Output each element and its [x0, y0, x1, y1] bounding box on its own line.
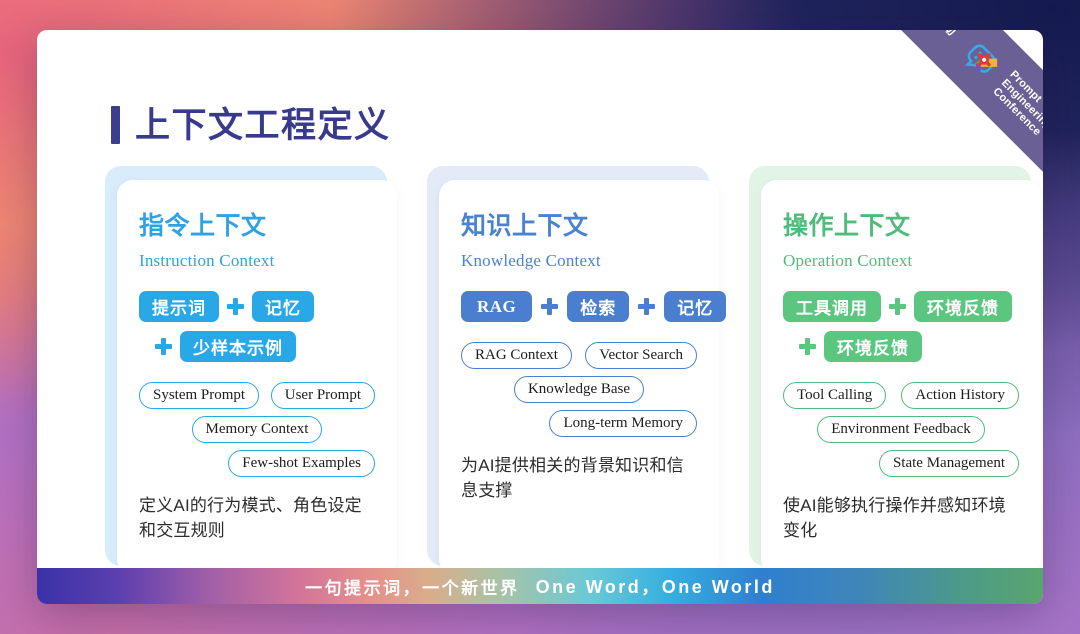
context-column-knowledge: 知识上下文Knowledge ContextRAG检索记忆RAG Context…	[433, 170, 719, 575]
formula-pill[interactable]: 环境反馈	[914, 291, 1012, 322]
context-columns: 指令上下文Instruction Context提示词记忆少样本示例System…	[111, 170, 1041, 575]
card-knowledge: 知识上下文Knowledge ContextRAG检索记忆RAG Context…	[439, 180, 719, 575]
plus-icon	[155, 338, 172, 355]
formula-pill[interactable]: 环境反馈	[824, 331, 922, 362]
title-text: 上下文工程定义	[135, 108, 391, 143]
card-instruction: 指令上下文Instruction Context提示词记忆少样本示例System…	[117, 180, 397, 575]
plus-icon	[227, 298, 244, 315]
tag-row: System PromptUser Prompt	[139, 382, 375, 409]
ribbon-en-label: Prompt Engineering Conference	[990, 68, 1043, 141]
banner-cn-text: 一句提示词，一个新世界	[305, 574, 520, 599]
formula-row: 提示词记忆	[139, 291, 375, 322]
card-heading-en: Instruction Context	[139, 251, 375, 271]
context-column-instruction: 指令上下文Instruction Context提示词记忆少样本示例System…	[111, 170, 397, 575]
banner-en-text: One Word，One World	[536, 573, 775, 599]
plus-icon	[541, 298, 558, 315]
formula-pill[interactable]: 检索	[567, 291, 629, 322]
plus-icon	[799, 338, 816, 355]
component-tag[interactable]: System Prompt	[139, 382, 259, 409]
formula-pill[interactable]: 工具调用	[783, 291, 881, 322]
slide-panel: 系 列 活 动	[37, 30, 1043, 604]
formula-row: 工具调用环境反馈	[783, 291, 1019, 322]
formula-row: 环境反馈	[783, 331, 1019, 362]
tag-row: RAG ContextVector Search	[461, 342, 697, 369]
ribbon-cn-label: 系 列 活 动	[886, 30, 964, 42]
card-heading-cn: 操作上下文	[783, 214, 1019, 239]
component-tag-list: RAG ContextVector SearchKnowledge BaseLo…	[461, 342, 697, 437]
tag-row: Environment Feedback	[783, 416, 1019, 443]
component-tag-list: System PromptUser PromptMemory ContextFe…	[139, 382, 375, 477]
prompt-engineering-conference-logo	[954, 32, 1011, 89]
card-heading-cn: 指令上下文	[139, 214, 375, 239]
formula-pill-rows: 工具调用环境反馈环境反馈	[783, 291, 1019, 362]
component-tag[interactable]: State Management	[879, 450, 1019, 477]
title-accent-bar	[111, 106, 120, 144]
tag-row: Tool CallingAction History	[783, 382, 1019, 409]
ribbon-en-line3: Conference	[990, 86, 1043, 139]
context-column-operation: 操作上下文Operation Context工具调用环境反馈环境反馈Tool C…	[755, 170, 1041, 575]
formula-pill[interactable]: 记忆	[252, 291, 314, 322]
formula-row: 少样本示例	[139, 331, 375, 362]
tag-row: Memory Context	[139, 416, 375, 443]
card-description: 定义AI的行为模式、角色设定和交互规则	[139, 493, 375, 543]
card-heading-en: Knowledge Context	[461, 251, 697, 271]
tag-row: Knowledge Base	[461, 376, 697, 403]
formula-pill[interactable]: 提示词	[139, 291, 219, 322]
formula-row: RAG检索记忆	[461, 291, 697, 322]
component-tag[interactable]: Knowledge Base	[514, 376, 644, 403]
ribbon-en-line1: Prompt	[1008, 68, 1043, 105]
formula-pill[interactable]: 记忆	[664, 291, 726, 322]
tag-row: State Management	[783, 450, 1019, 477]
formula-pill-rows: RAG检索记忆	[461, 291, 697, 322]
card-description: 为AI提供相关的背景知识和信息支撑	[461, 453, 697, 503]
card-operation: 操作上下文Operation Context工具调用环境反馈环境反馈Tool C…	[761, 180, 1041, 575]
ribbon-en-line2: Engineering	[999, 77, 1043, 132]
component-tag[interactable]: User Prompt	[271, 382, 375, 409]
formula-pill-rows: 提示词记忆少样本示例	[139, 291, 375, 362]
component-tag[interactable]: Vector Search	[585, 342, 697, 369]
tag-row: Few-shot Examples	[139, 450, 375, 477]
formula-pill[interactable]: RAG	[461, 291, 532, 322]
component-tag[interactable]: Few-shot Examples	[228, 450, 375, 477]
formula-pill[interactable]: 少样本示例	[180, 331, 296, 362]
component-tag[interactable]: Environment Feedback	[817, 416, 985, 443]
component-tag[interactable]: Action History	[901, 382, 1019, 409]
plus-icon	[889, 298, 906, 315]
bottom-banner: 一句提示词，一个新世界 One Word，One World	[37, 568, 1043, 604]
page-title: 上下文工程定义	[111, 106, 391, 144]
slide-root: 系 列 活 动	[0, 0, 1080, 634]
component-tag[interactable]: RAG Context	[461, 342, 572, 369]
card-heading-cn: 知识上下文	[461, 214, 697, 239]
component-tag[interactable]: Tool Calling	[783, 382, 886, 409]
tag-row: Long-term Memory	[461, 410, 697, 437]
component-tag-list: Tool CallingAction HistoryEnvironment Fe…	[783, 382, 1019, 477]
component-tag[interactable]: Memory Context	[192, 416, 323, 443]
card-description: 使AI能够执行操作并感知环境变化	[783, 493, 1019, 543]
component-tag[interactable]: Long-term Memory	[549, 410, 697, 437]
plus-icon	[638, 298, 655, 315]
card-heading-en: Operation Context	[783, 251, 1019, 271]
